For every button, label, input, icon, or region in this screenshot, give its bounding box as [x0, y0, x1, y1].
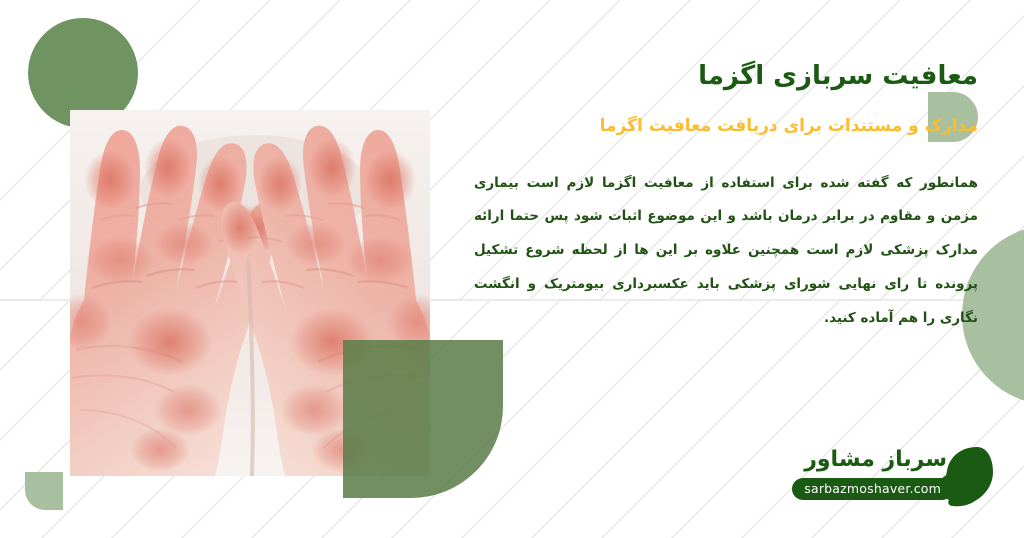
page-title: معافیت سربازی اگزما: [470, 60, 978, 93]
decorative-leaf-shape: [343, 340, 503, 498]
logo-domain[interactable]: sarbazmoshaver.com: [792, 478, 953, 500]
logo-brand-name: سرباز مشاور: [804, 447, 947, 472]
text-column: معافیت سربازی اگزما مدارک و مستندات برای…: [470, 60, 978, 335]
body-paragraph: همانطور که گفته شده برای استفاده از معاف…: [470, 167, 978, 336]
brand-logo[interactable]: سرباز مشاور sarbazmoshaver.com: [790, 445, 995, 513]
decorative-quarter-bottom-left: [25, 472, 63, 510]
promotional-banner: معافیت سربازی اگزما مدارک و مستندات برای…: [0, 0, 1024, 538]
page-subtitle: مدارک و مستندات برای دریافت معافیت اگزما: [470, 115, 978, 137]
